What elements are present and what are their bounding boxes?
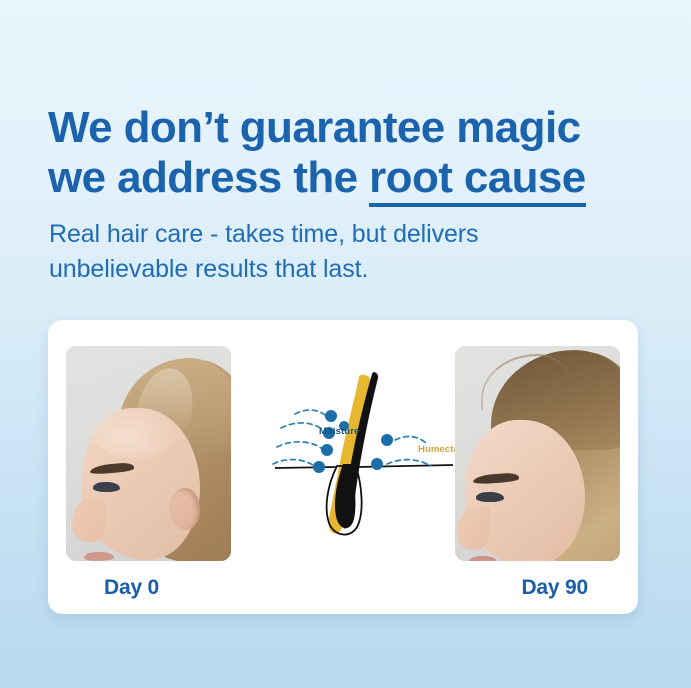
- headline-line-2-prefix: we address the: [48, 153, 369, 202]
- eye: [93, 482, 120, 492]
- after-photo: [455, 346, 620, 561]
- forehead-highlight: [92, 406, 178, 458]
- lips: [469, 556, 497, 561]
- humectant-droplets: [371, 434, 393, 470]
- after-photo-image: [455, 346, 620, 561]
- nose: [72, 498, 106, 542]
- before-after-card: Moisture Humectants Day 0 Day 90: [48, 320, 638, 614]
- ear: [170, 488, 200, 530]
- headline-line-1: We don’t guarantee magic: [48, 103, 662, 153]
- page-title: We don’t guarantee magic we address the …: [48, 103, 662, 203]
- lips: [84, 552, 114, 561]
- page-subtitle: Real hair care - takes time, but deliver…: [49, 217, 589, 287]
- subtitle-line-1: Real hair care - takes time, but deliver…: [49, 217, 589, 252]
- eye: [476, 492, 504, 502]
- before-photo-image: [66, 346, 231, 561]
- headline-line-2: we address the root cause: [48, 153, 662, 203]
- nose: [457, 506, 490, 550]
- headline-emphasis-root-cause: root cause: [369, 153, 586, 207]
- caption-day-90: Day 90: [521, 576, 588, 600]
- caption-day-0: Day 0: [104, 576, 159, 600]
- before-photo: [66, 346, 231, 561]
- subtitle-line-2: unbelievable results that last.: [49, 252, 589, 287]
- moisture-flow-arrows: [273, 410, 325, 465]
- skin-line-left: [275, 467, 337, 468]
- promo-page: We don’t guarantee magic we address the …: [0, 0, 691, 688]
- diagram-label-moisture: Moisture: [319, 426, 359, 437]
- hair-follicle-diagram: Moisture Humectants: [255, 368, 470, 548]
